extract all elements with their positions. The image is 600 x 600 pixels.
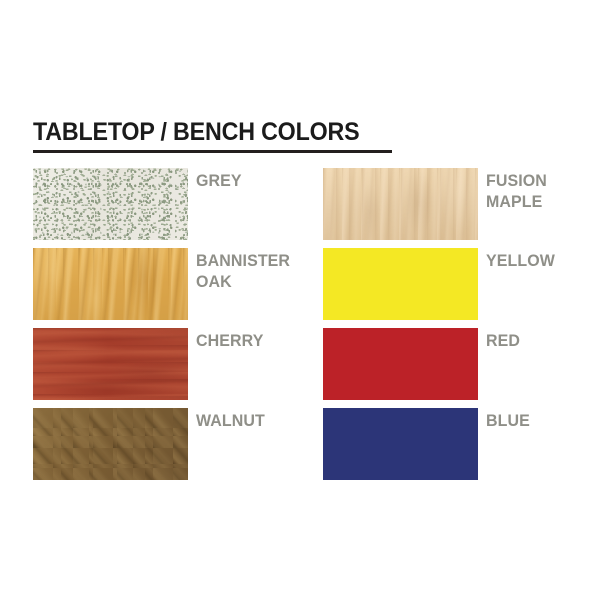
page-title-block: TABLETOP / BENCH COLORS bbox=[33, 118, 393, 153]
swatch-color-blue[interactable] bbox=[323, 408, 478, 480]
swatch-row-cherry[interactable]: CHERRY bbox=[33, 328, 283, 400]
swatch-label-red: RED bbox=[486, 328, 520, 351]
right-column: FUSION MAPLE YELLOW RED BLUE bbox=[323, 168, 573, 480]
swatch-row-yellow[interactable]: YELLOW bbox=[323, 248, 573, 320]
swatch-label-bannister-oak: BANNISTER OAK bbox=[196, 248, 290, 292]
swatch-color-fusion-maple[interactable] bbox=[323, 168, 478, 240]
swatch-row-red[interactable]: RED bbox=[323, 328, 573, 400]
swatch-color-yellow[interactable] bbox=[323, 248, 478, 320]
swatch-color-grey[interactable] bbox=[33, 168, 188, 240]
swatch-color-bannister-oak[interactable] bbox=[33, 248, 188, 320]
swatch-row-blue[interactable]: BLUE bbox=[323, 408, 573, 480]
swatch-row-fusion-maple[interactable]: FUSION MAPLE bbox=[323, 168, 573, 240]
page-title: TABLETOP / BENCH COLORS bbox=[33, 118, 368, 146]
swatch-label-fusion-maple: FUSION MAPLE bbox=[486, 168, 547, 212]
swatch-label-yellow: YELLOW bbox=[486, 248, 555, 271]
swatch-label-walnut: WALNUT bbox=[196, 408, 265, 431]
title-underline-rule bbox=[33, 150, 392, 153]
swatch-color-red[interactable] bbox=[323, 328, 478, 400]
swatch-label-cherry: CHERRY bbox=[196, 328, 263, 351]
left-column: GREY BANNISTER OAK CHERRY WALNUT bbox=[33, 168, 283, 480]
swatch-color-cherry[interactable] bbox=[33, 328, 188, 400]
color-chart-sheet: TABLETOP / BENCH COLORS GREY BANNISTER O… bbox=[0, 0, 600, 600]
swatch-row-bannister-oak[interactable]: BANNISTER OAK bbox=[33, 248, 283, 320]
swatch-row-walnut[interactable]: WALNUT bbox=[33, 408, 283, 480]
swatch-columns: GREY BANNISTER OAK CHERRY WALNUT FUSION … bbox=[33, 168, 573, 480]
swatch-label-blue: BLUE bbox=[486, 408, 530, 431]
swatch-label-grey: GREY bbox=[196, 168, 242, 191]
swatch-row-grey[interactable]: GREY bbox=[33, 168, 283, 240]
swatch-color-walnut[interactable] bbox=[33, 408, 188, 480]
